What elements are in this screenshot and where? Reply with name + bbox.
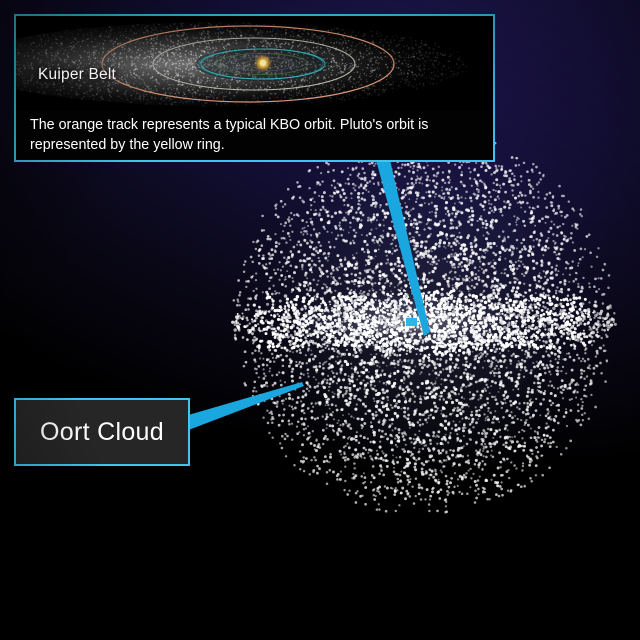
background-vignette: [0, 0, 640, 640]
kuiper-belt-caption: The orange track represents a typical KB…: [16, 110, 493, 160]
caption-line-2: represented by the yellow ring.: [30, 136, 481, 156]
figure-canvas: Kuiper Belt The orange track represents …: [0, 0, 640, 640]
caption-line-1: The orange track represents a typical KB…: [30, 116, 481, 136]
kuiper-belt-label: Kuiper Belt: [38, 66, 116, 84]
